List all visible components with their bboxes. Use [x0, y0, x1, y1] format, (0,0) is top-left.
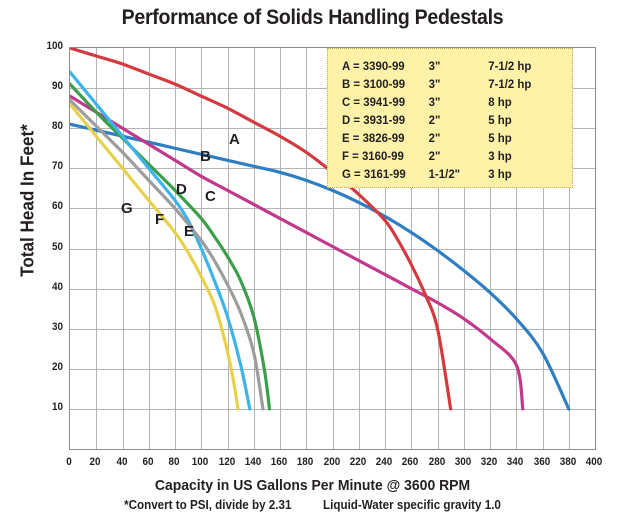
y-tick-label: 20	[32, 361, 63, 373]
footnote-convert-psi: *Convert to PSI, divide by 2.31	[124, 498, 291, 512]
legend-model: C = 3941-99	[342, 93, 429, 111]
y-tick-label: 100	[32, 40, 63, 52]
x-axis-label: Capacity in US Gallons Per Minute @ 3600…	[22, 477, 603, 494]
curve-label-e: E	[184, 223, 194, 240]
legend-horsepower: 7-1/2 hp	[488, 57, 560, 75]
x-tick-label: 0	[56, 456, 83, 468]
y-tick-label: 10	[32, 401, 63, 413]
curve-label-f: F	[155, 211, 164, 228]
x-tick-label: 300	[449, 456, 476, 468]
curve-label-c: C	[205, 188, 216, 205]
y-tick-label: 40	[32, 281, 63, 293]
x-tick-label: 340	[502, 456, 529, 468]
curve-label-a: A	[229, 131, 240, 148]
legend-horsepower: 3 hp	[488, 165, 560, 183]
legend-horsepower: 3 hp	[488, 147, 560, 165]
chart-root: Performance of Solids Handling Pedestals…	[0, 0, 625, 525]
y-tick-label: 50	[32, 241, 63, 253]
x-tick-label: 260	[397, 456, 424, 468]
legend-discharge-size: 3"	[429, 75, 489, 93]
y-tick-label: 30	[32, 321, 63, 333]
legend-row: B = 3100-993"7-1/2 hp	[342, 75, 561, 93]
legend-model: B = 3100-99	[342, 75, 429, 93]
x-tick-label: 220	[344, 456, 371, 468]
curve-label-d: D	[176, 181, 187, 198]
legend-horsepower: 8 hp	[488, 93, 560, 111]
legend-row: A = 3390-993"7-1/2 hp	[342, 57, 561, 75]
legend-discharge-size: 1-1/2"	[429, 165, 489, 183]
legend-row: C = 3941-993"8 hp	[342, 93, 561, 111]
x-tick-label: 380	[554, 456, 581, 468]
page-title: Performance of Solids Handling Pedestals	[22, 6, 603, 30]
x-tick-label: 120	[213, 456, 240, 468]
x-tick-label: 60	[134, 456, 161, 468]
legend-discharge-size: 3"	[429, 93, 489, 111]
x-tick-label: 100	[187, 456, 214, 468]
legend-horsepower: 5 hp	[488, 129, 560, 147]
x-tick-label: 140	[239, 456, 266, 468]
legend-discharge-size: 2"	[429, 147, 489, 165]
legend-model: F = 3160-99	[342, 147, 429, 165]
x-tick-label: 320	[476, 456, 503, 468]
footnote-specific-gravity: Liquid-Water specific gravity 1.0	[323, 498, 501, 512]
legend-discharge-size: 3"	[429, 57, 489, 75]
curve-label-g: G	[121, 200, 133, 217]
legend-model: E = 3826-99	[342, 129, 429, 147]
legend-model: G = 3161-99	[342, 165, 429, 183]
y-tick-label: 70	[32, 160, 63, 172]
x-tick-label: 180	[292, 456, 319, 468]
legend-discharge-size: 2"	[429, 129, 489, 147]
x-tick-label: 80	[161, 456, 188, 468]
x-tick-label: 240	[371, 456, 398, 468]
y-tick-label: 80	[32, 120, 63, 132]
y-tick-label: 90	[32, 80, 63, 92]
x-tick-label: 40	[108, 456, 135, 468]
legend-row: F = 3160-992"3 hp	[342, 147, 561, 165]
legend-horsepower: 7-1/2 hp	[488, 75, 560, 93]
legend-row: G = 3161-991-1/2"3 hp	[342, 165, 561, 183]
legend-row: D = 3931-992"5 hp	[342, 111, 561, 129]
legend-row: E = 3826-992"5 hp	[342, 129, 561, 147]
legend-model: A = 3390-99	[342, 57, 429, 75]
x-tick-label: 160	[266, 456, 293, 468]
x-tick-label: 280	[423, 456, 450, 468]
legend-box: A = 3390-993"7-1/2 hpB = 3100-993"7-1/2 …	[327, 48, 573, 188]
legend-discharge-size: 2"	[429, 111, 489, 129]
x-tick-label: 360	[528, 456, 555, 468]
footnotes: *Convert to PSI, divide by 2.31Liquid-Wa…	[22, 498, 603, 512]
x-tick-label: 400	[581, 456, 608, 468]
curve-label-b: B	[200, 148, 211, 165]
x-tick-label: 20	[82, 456, 109, 468]
legend-horsepower: 5 hp	[488, 111, 560, 129]
y-tick-label: 60	[32, 200, 63, 212]
x-tick-label: 200	[318, 456, 345, 468]
legend-model: D = 3931-99	[342, 111, 429, 129]
